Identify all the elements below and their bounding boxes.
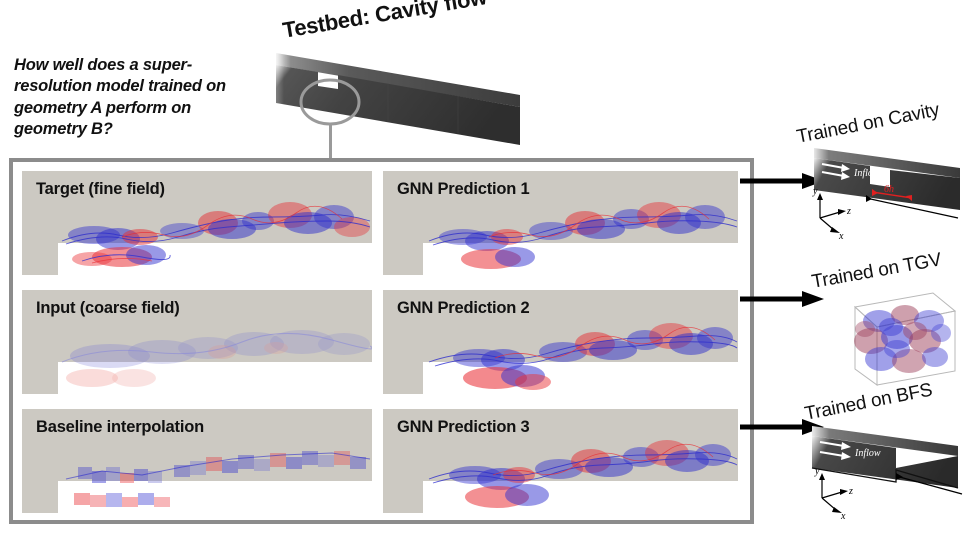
research-question: How well does a super-resolution model t…: [14, 55, 264, 141]
panel-gnn-prediction-3: GNN Prediction 3: [383, 409, 738, 513]
axis-label-z: z: [848, 486, 853, 497]
panel-label-gnn-prediction-3: GNN Prediction 3: [397, 418, 530, 437]
panel-label-gnn-prediction-1: GNN Prediction 1: [397, 180, 530, 199]
panel-label-input: Input (coarse field): [36, 299, 180, 318]
inflow-label-cavity: Inflow: [853, 168, 880, 179]
cavity-notch-callout: [299, 78, 361, 126]
panel-label-baseline: Baseline interpolation: [36, 418, 204, 437]
inflow-label-bfs: Inflow: [854, 448, 881, 459]
axis-label-y: y: [814, 466, 820, 477]
axis-label-z: z: [846, 206, 851, 217]
panel-target: Target (fine field): [22, 171, 372, 275]
panel-label-target: Target (fine field): [36, 180, 165, 199]
panel-label-gnn-prediction-2: GNN Prediction 2: [397, 299, 530, 318]
schematic-trained-on-tgv: [845, 285, 965, 390]
axis-label-y: y: [812, 186, 818, 197]
schematic-trained-on-bfs: Inflow y z x: [800, 412, 965, 537]
panel-baseline: Baseline interpolation: [22, 409, 372, 513]
results-panel-group: Target (fine field): [9, 158, 754, 524]
panel-gnn-prediction-1: GNN Prediction 1: [383, 171, 738, 275]
schematic-trained-on-cavity: Inflow 6h y z x: [800, 140, 965, 245]
panel-input: Input (coarse field): [22, 290, 372, 394]
callout-leader-line: [329, 124, 332, 162]
axis-label-x: x: [840, 511, 846, 522]
dimension-label-6h: 6h: [884, 184, 894, 195]
axis-label-x: x: [838, 231, 844, 242]
panel-gnn-prediction-2: GNN Prediction 2: [383, 290, 738, 394]
